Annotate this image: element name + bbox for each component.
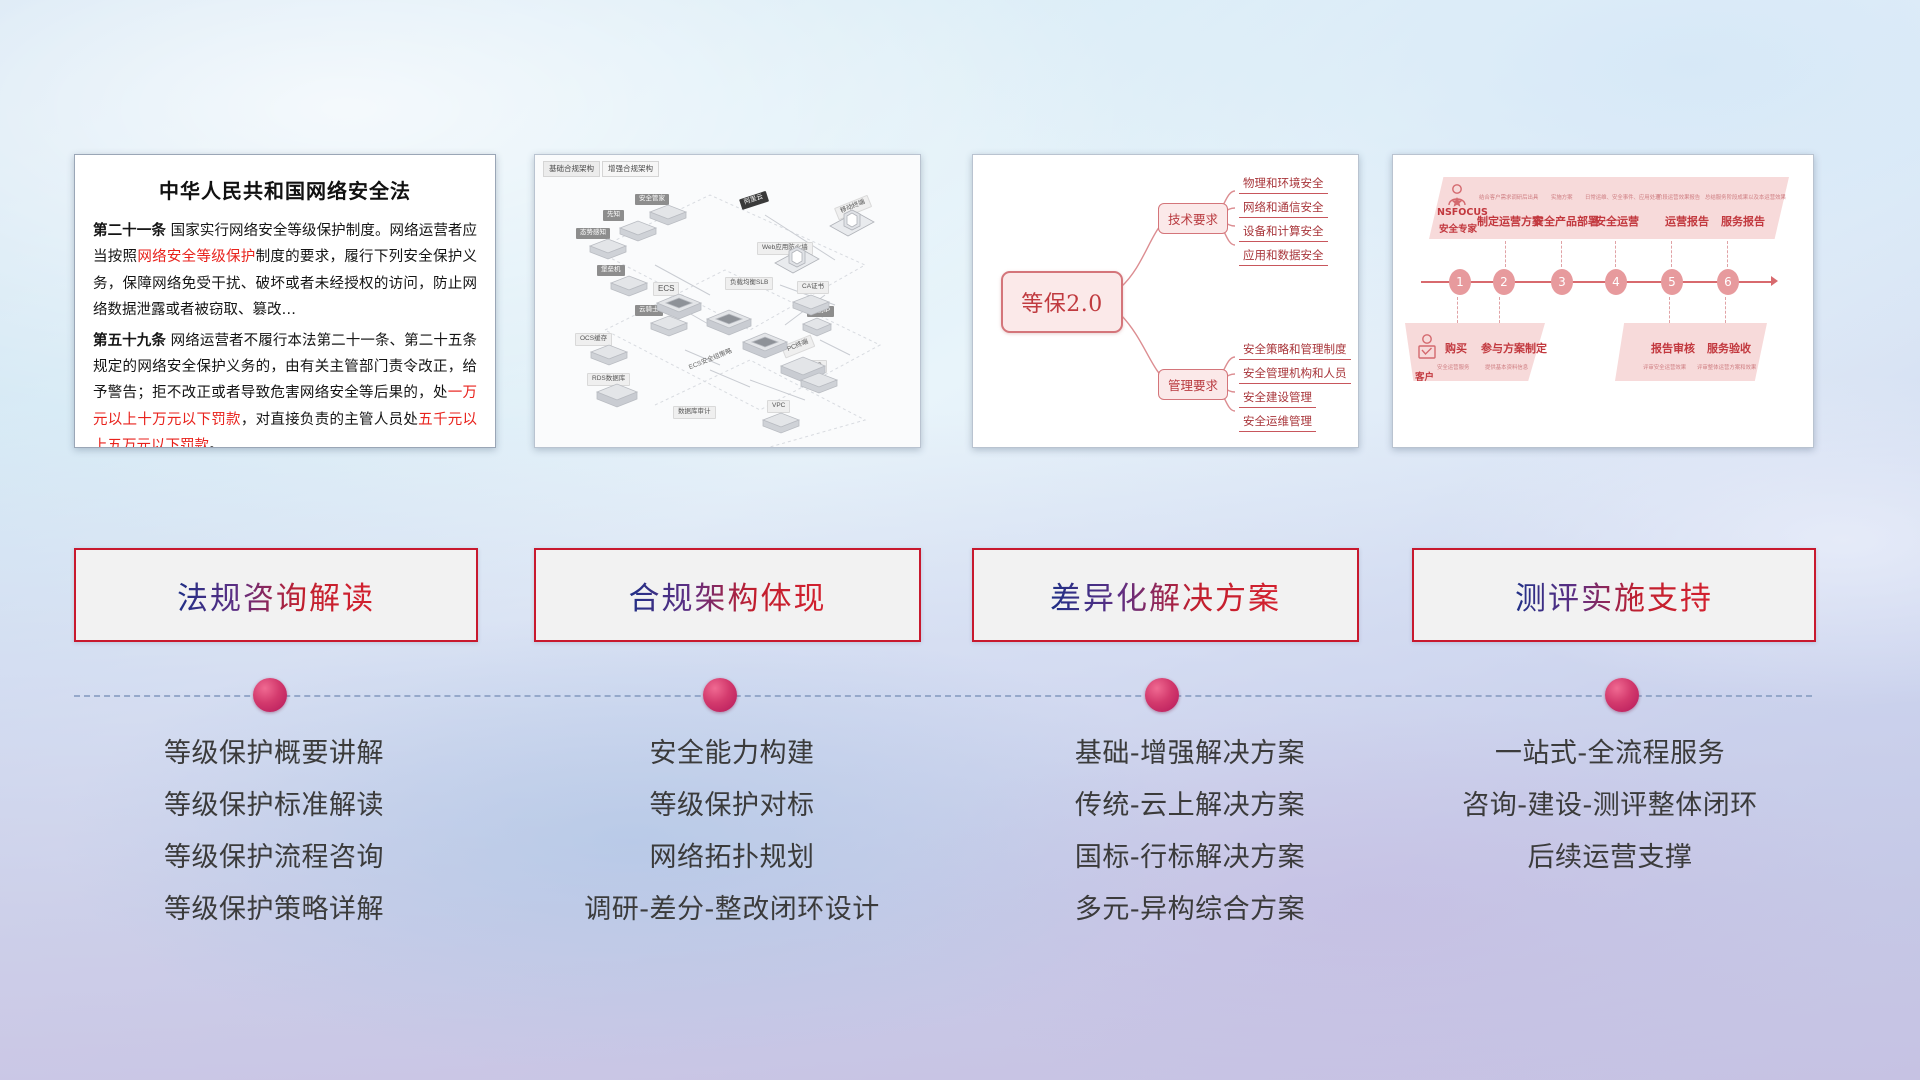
- title-box-compliance-architecture[interactable]: 合规架构体现: [534, 548, 921, 642]
- architecture-canvas: 基础合规架构 增强合规架构: [535, 155, 920, 447]
- list-item: 调研-差分-整改闭环设计: [492, 896, 972, 923]
- arch-node-oss: OSS: [803, 360, 827, 373]
- timeline-bottom-sub-3: 评审安全运营效果: [1643, 363, 1686, 371]
- title-box-differentiated-solution[interactable]: 差异化解决方案: [972, 548, 1359, 642]
- title-label-0: 法规咨询解读: [177, 573, 375, 618]
- timeline-top-head-3: 安全运营: [1595, 213, 1639, 229]
- mindmap-leaf-policy-system: 安全策略和管理制度: [1239, 341, 1351, 360]
- timeline-bottom-head-2: 参与方案制定: [1481, 340, 1547, 356]
- list-item: 网络拓扑规划: [492, 844, 972, 871]
- timeline-customer-label: 客户: [1415, 369, 1434, 383]
- feature-list-0: 等级保护概要讲解 等级保护标准解读 等级保护流程咨询 等级保护策略详解: [34, 740, 514, 948]
- timeline-leader-2b: [1499, 297, 1501, 323]
- timeline-top-head-2: 安全产品部署: [1533, 213, 1599, 229]
- timeline-step-6[interactable]: 6: [1717, 269, 1739, 295]
- feature-list-1: 安全能力构建 等级保护对标 网络拓扑规划 调研-差分-整改闭环设计: [492, 740, 972, 948]
- timeline-step-1[interactable]: 1: [1449, 269, 1471, 295]
- mindmap-root: 等保2.0: [1001, 271, 1123, 333]
- list-item: 咨询-建设-测评整体闭环: [1370, 792, 1850, 819]
- timeline-top-sub-4: 阶段运营效果报告: [1657, 193, 1700, 201]
- mindmap-leaf-device-compute: 设备和计算安全: [1239, 223, 1328, 242]
- mindmap-branch-technical: 技术要求: [1158, 203, 1228, 234]
- list-item: 等级保护流程咨询: [34, 844, 514, 871]
- timeline-leader-4: [1615, 241, 1617, 267]
- arch-node-security-housekeeper: 安全管家: [635, 194, 669, 205]
- timeline-step-4[interactable]: 4: [1605, 269, 1627, 295]
- timeline-bottom-head-1: 购买: [1445, 340, 1467, 356]
- list-item: 安全能力构建: [492, 740, 972, 767]
- arch-node-xianzhi: 先知: [603, 210, 624, 221]
- timeline-leader-5: [1671, 241, 1673, 267]
- rail-knob-1[interactable]: [703, 678, 737, 712]
- timeline-leader-3: [1561, 241, 1563, 267]
- arch-node-ocs-cache: OCS缓存: [575, 333, 612, 346]
- timeline-leader-6: [1727, 241, 1729, 267]
- law-article-21: 第二十一条 国家实行网络安全等级保护制度。网络运营者应当按照网络安全等级保护制度…: [93, 218, 477, 324]
- mindmap-leaf-org-personnel: 安全管理机构和人员: [1239, 365, 1351, 384]
- timeline-rail: [74, 695, 1812, 697]
- mindmap-branch-management: 管理要求: [1158, 369, 1228, 400]
- timeline-step-5[interactable]: 5: [1661, 269, 1683, 295]
- timeline-canvas: NSFOCUS 安全专家 客户 1 2 3 4 5 6 结合客户需求调研后出具 …: [1393, 155, 1813, 447]
- list-item: 等级保护对标: [492, 792, 972, 819]
- card-architecture-diagram: 基础合规架构 增强合规架构: [534, 154, 921, 448]
- timeline-top-sub-5: 总结服务阶段成果以及本运营效果: [1705, 193, 1786, 201]
- timeline-top-head-4: 运营报告: [1665, 213, 1709, 229]
- timeline-bottom-sub-4: 评审整体运营方案和效果: [1697, 363, 1756, 371]
- law-title: 中华人民共和国网络安全法: [93, 175, 477, 204]
- timeline-bottom-head-3: 报告审核: [1651, 340, 1695, 356]
- law-document: 中华人民共和国网络安全法 第二十一条 国家实行网络安全等级保护制度。网络运营者应…: [75, 155, 495, 447]
- title-box-evaluation-support[interactable]: 测评实施支持: [1412, 548, 1816, 642]
- arch-node-ca-cert: CA证书: [797, 281, 829, 294]
- mindmap-leaf-ops-mgmt: 安全运维管理: [1239, 413, 1316, 432]
- mindmap-leaf-construction-mgmt: 安全建设管理: [1239, 389, 1316, 408]
- title-label-3: 测评实施支持: [1515, 573, 1713, 618]
- rail-knob-3[interactable]: [1605, 678, 1639, 712]
- mindmap-leaf-network-comm: 网络和通信安全: [1239, 199, 1328, 218]
- timeline-leader-5b: [1669, 297, 1671, 323]
- law-article-21-label: 第二十一条: [93, 223, 166, 239]
- arch-node-vpc: VPC: [767, 400, 790, 413]
- feature-list-3: 一站式-全流程服务 咨询-建设-测评整体闭环 后续运营支撑: [1370, 740, 1850, 896]
- arch-node-situation-awareness: 态势感知: [576, 228, 610, 239]
- law-article-59-label: 第五十九条: [93, 333, 166, 349]
- list-item: 等级保护策略详解: [34, 896, 514, 923]
- list-item: 等级保护概要讲解: [34, 740, 514, 767]
- timeline-step-2[interactable]: 2: [1493, 269, 1515, 295]
- slide-stage: 中华人民共和国网络安全法 第二十一条 国家实行网络安全等级保护制度。网络运营者应…: [0, 0, 1920, 1080]
- law-article-21-highlight: 网络安全等级保护: [137, 249, 255, 265]
- timeline-top-sub-1: 结合客户需求调研后出具: [1479, 193, 1538, 201]
- timeline-leader-2: [1505, 241, 1507, 267]
- customer-person-icon: [1415, 333, 1439, 367]
- card-service-timeline: NSFOCUS 安全专家 客户 1 2 3 4 5 6 结合客户需求调研后出具 …: [1392, 154, 1814, 448]
- timeline-bottom-head-4: 服务验收: [1707, 340, 1751, 356]
- arch-node-slb: 负载均衡SLB: [725, 277, 773, 290]
- card-mindmap: 等保2.0 技术要求 管理要求 物理和环境安全 网络和通信安全 设备和计算安全 …: [972, 154, 1359, 448]
- arch-node-rds-db: RDS数据库: [587, 373, 630, 386]
- law-article-59-text-b: ，对直接负责的主管人员处: [241, 412, 418, 428]
- timeline-step-3[interactable]: 3: [1551, 269, 1573, 295]
- arch-node-yunqishi: 云骑士: [635, 305, 663, 316]
- timeline-top-sub-2: 实施方案: [1551, 193, 1573, 201]
- title-label-1: 合规架构体现: [629, 573, 827, 618]
- list-item: 传统-云上解决方案: [950, 792, 1430, 819]
- feature-list-2: 基础-增强解决方案 传统-云上解决方案 国标-行标解决方案 多元-异构综合方案: [950, 740, 1430, 948]
- timeline-arrow-icon: [1771, 276, 1778, 286]
- timeline-top-head-5: 服务报告: [1721, 213, 1765, 229]
- mindmap-leaf-app-data: 应用和数据安全: [1239, 247, 1328, 266]
- title-box-regulation-consulting[interactable]: 法规咨询解读: [74, 548, 478, 642]
- arch-node-db-audit: 数据库审计: [673, 406, 716, 419]
- timeline-expert-label-line2: 安全专家: [1439, 221, 1477, 235]
- timeline-top-sub-3: 日常运维、安全事件、应用处理: [1585, 193, 1660, 201]
- arch-node-waf: Web应用防火墙: [757, 242, 813, 255]
- mindmap-leaf-physical-env: 物理和环境安全: [1239, 175, 1328, 194]
- arch-node-bastion-host: 堡垒机: [597, 265, 625, 276]
- law-article-59: 第五十九条 网络运营者不履行本法第二十一条、第二十五条规定的网络安全保护义务的，…: [93, 328, 477, 449]
- list-item: 等级保护标准解读: [34, 792, 514, 819]
- card-law-text: 中华人民共和国网络安全法 第二十一条 国家实行网络安全等级保护制度。网络运营者应…: [74, 154, 496, 448]
- list-item: 国标-行标解决方案: [950, 844, 1430, 871]
- law-article-59-text-c: 。: [209, 438, 224, 448]
- list-item: 基础-增强解决方案: [950, 740, 1430, 767]
- rail-knob-0[interactable]: [253, 678, 287, 712]
- list-item: 多元-异构综合方案: [950, 896, 1430, 923]
- timeline-bottom-sub-1: 安全运营服务: [1437, 363, 1469, 371]
- timeline-leader-1b: [1457, 297, 1459, 323]
- rail-knob-2[interactable]: [1145, 678, 1179, 712]
- list-item: 一站式-全流程服务: [1370, 740, 1850, 767]
- mindmap-canvas: 等保2.0 技术要求 管理要求 物理和环境安全 网络和通信安全 设备和计算安全 …: [973, 155, 1358, 447]
- timeline-leader-6b: [1725, 297, 1727, 323]
- list-item: 后续运营支撑: [1370, 844, 1850, 871]
- arch-node-anti-ddos-ip: 高防IP: [807, 306, 834, 317]
- timeline-bottom-sub-2: 提供基本资料信息: [1485, 363, 1528, 371]
- title-label-2: 差异化解决方案: [1050, 573, 1281, 618]
- arch-node-ecs: ECS: [653, 282, 679, 296]
